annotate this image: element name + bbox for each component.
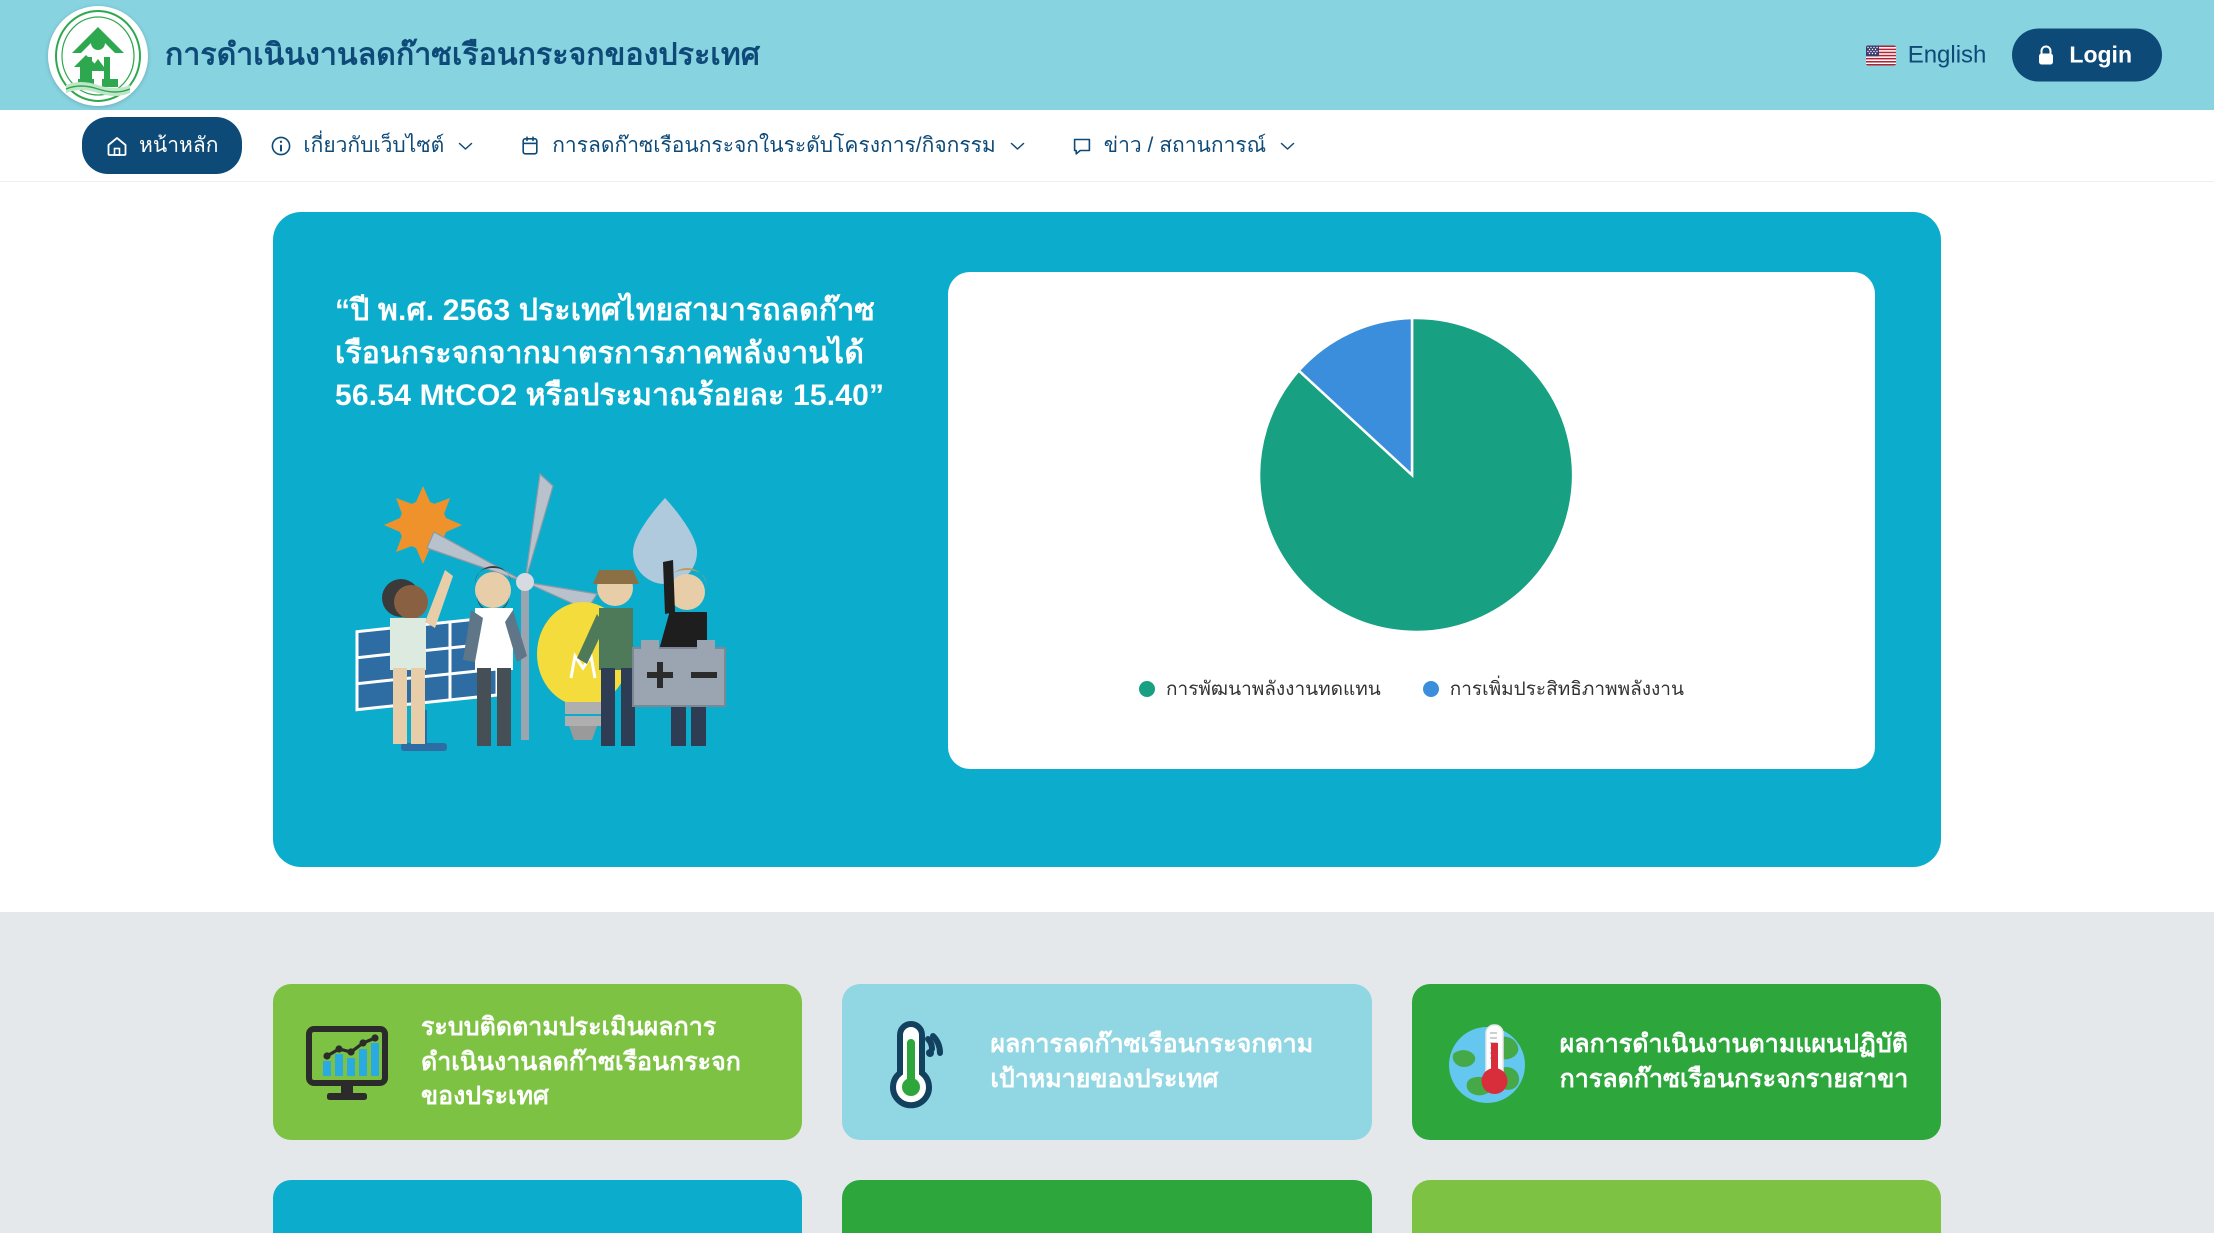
login-label: Login — [2069, 42, 2132, 69]
header-actions: English Login — [1866, 29, 2162, 82]
tile-sectoral-action-plan-results[interactable]: ผลการดำเนินงานตามแผนปฏิบัติการลดก๊าซเรือ… — [1412, 984, 1941, 1140]
nav-item-project-level-ghg[interactable]: การลดก๊าซเรือนกระจกในระดับโครงการ/กิจกรร… — [501, 118, 1043, 173]
home-icon — [106, 135, 128, 157]
tile-label-national-target-ghg-results: ผลการลดก๊าซเรือนกระจกตามเป้าหมายของประเท… — [990, 1027, 1343, 1096]
lock-icon — [2036, 44, 2056, 66]
renewable-energy-people-illustration — [335, 462, 765, 752]
language-label: English — [1908, 41, 1987, 69]
tile-row2-item-2[interactable] — [842, 1180, 1371, 1233]
message-icon — [1071, 135, 1093, 157]
monitor-bar-chart-icon — [301, 1013, 399, 1111]
tile-label-sectoral-action-plan-results: ผลการดำเนินงานตามแผนปฏิบัติการลดก๊าซเรือ… — [1560, 1027, 1913, 1096]
chevron-down-icon — [458, 141, 473, 151]
national-gov-seal-logo-icon — [54, 9, 142, 103]
language-switcher[interactable]: English — [1866, 41, 1987, 69]
nav-item-home[interactable]: หน้าหลัก — [82, 117, 242, 174]
chevron-down-icon — [1010, 141, 1025, 151]
quick-links-section: ระบบติดตามประเมินผลการดำเนินงานลดก๊าซเรื… — [0, 912, 2214, 1233]
site-logo[interactable] — [48, 6, 148, 106]
us-flag-icon — [1866, 45, 1896, 65]
hero-section: “ปี พ.ศ. 2563 ประเทศไทยสามารถลดก๊าซเรือน… — [0, 182, 2214, 912]
ghg-reduction-pie-chart[interactable] — [1247, 310, 1577, 640]
legend-label-renewable-energy: การพัฒนาพลังงานทดแทน — [1166, 674, 1381, 704]
pie-chart-legend: การพัฒนาพลังงานทดแทน การเพิ่มประสิทธิภาพ… — [1139, 674, 1684, 704]
calendar-icon — [519, 135, 541, 157]
tile-national-target-ghg-results[interactable]: ผลการลดก๊าซเรือนกระจกตามเป้าหมายของประเท… — [842, 984, 1371, 1140]
legend-color-swatch-teal — [1139, 681, 1155, 697]
hero-panel: “ปี พ.ศ. 2563 ประเทศไทยสามารถลดก๊าซเรือน… — [273, 212, 1941, 867]
legend-label-energy-efficiency: การเพิ่มประสิทธิภาพพลังงาน — [1450, 674, 1684, 704]
hero-quote: “ปี พ.ศ. 2563 ประเทศไทยสามารถลดก๊าซเรือน… — [335, 290, 930, 418]
globe-thermometer-icon — [1440, 1013, 1538, 1111]
quick-links-grid: ระบบติดตามประเมินผลการดำเนินงานลดก๊าซเรื… — [273, 984, 1941, 1233]
login-button[interactable]: Login — [2012, 29, 2162, 82]
tile-row2-item-1[interactable] — [273, 1180, 802, 1233]
nav-label-news: ข่าว / สถานการณ์ — [1104, 129, 1266, 162]
site-title: การดำเนินงานลดก๊าซเรือนกระจกของประเทศ — [165, 32, 760, 79]
tile-row2-item-3[interactable] — [1412, 1180, 1941, 1233]
nav-item-news[interactable]: ข่าว / สถานการณ์ — [1053, 118, 1313, 173]
chevron-down-icon — [1280, 141, 1295, 151]
site-header: การดำเนินงานลดก๊าซเรือนกระจกของประเทศ — [0, 0, 2214, 110]
main-navigation: หน้าหลัก เกี่ยวกับเว็บไซต์ การลดก๊าซเรือ… — [0, 110, 2214, 182]
thermometer-signal-icon — [870, 1013, 968, 1111]
ghg-pie-chart-card: การพัฒนาพลังงานทดแทน การเพิ่มประสิทธิภาพ… — [948, 272, 1875, 769]
nav-item-about[interactable]: เกี่ยวกับเว็บไซต์ — [252, 118, 491, 173]
legend-item-renewable-energy[interactable]: การพัฒนาพลังงานทดแทน — [1139, 674, 1381, 704]
tile-label-national-ghg-monitoring-system: ระบบติดตามประเมินผลการดำเนินงานลดก๊าซเรื… — [421, 1010, 774, 1114]
legend-item-energy-efficiency[interactable]: การเพิ่มประสิทธิภาพพลังงาน — [1423, 674, 1684, 704]
legend-color-swatch-blue — [1423, 681, 1439, 697]
nav-label-home: หน้าหลัก — [139, 129, 218, 162]
info-circle-icon — [270, 135, 292, 157]
tile-national-ghg-monitoring-system[interactable]: ระบบติดตามประเมินผลการดำเนินงานลดก๊าซเรื… — [273, 984, 802, 1140]
nav-label-project-level-ghg: การลดก๊าซเรือนกระจกในระดับโครงการ/กิจกรร… — [552, 129, 996, 162]
hero-left-column: “ปี พ.ศ. 2563 ประเทศไทยสามารถลดก๊าซเรือน… — [335, 272, 930, 752]
nav-label-about: เกี่ยวกับเว็บไซต์ — [303, 129, 444, 162]
